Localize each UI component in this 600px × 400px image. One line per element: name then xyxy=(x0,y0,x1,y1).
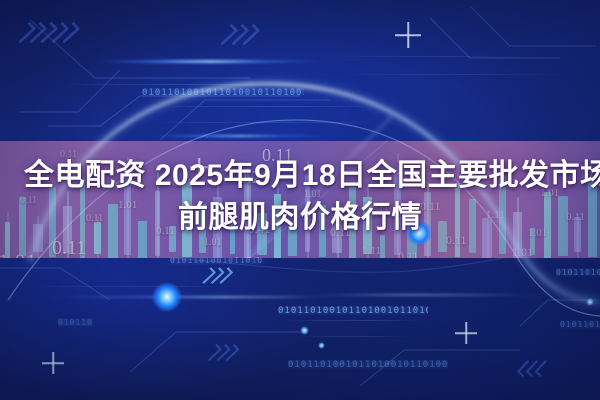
banner-title: 全电配资 2025年9月18日全国主要批发市场猪 前腿肌肉价格行情 xyxy=(0,155,600,239)
title-line-2: 前腿肌肉价格行情 xyxy=(24,197,576,239)
banner-image: 010110100101101001011010010110100101 010… xyxy=(0,0,600,400)
title-line-1: 全电配资 2025年9月18日全国主要批发市场猪 xyxy=(24,155,576,197)
